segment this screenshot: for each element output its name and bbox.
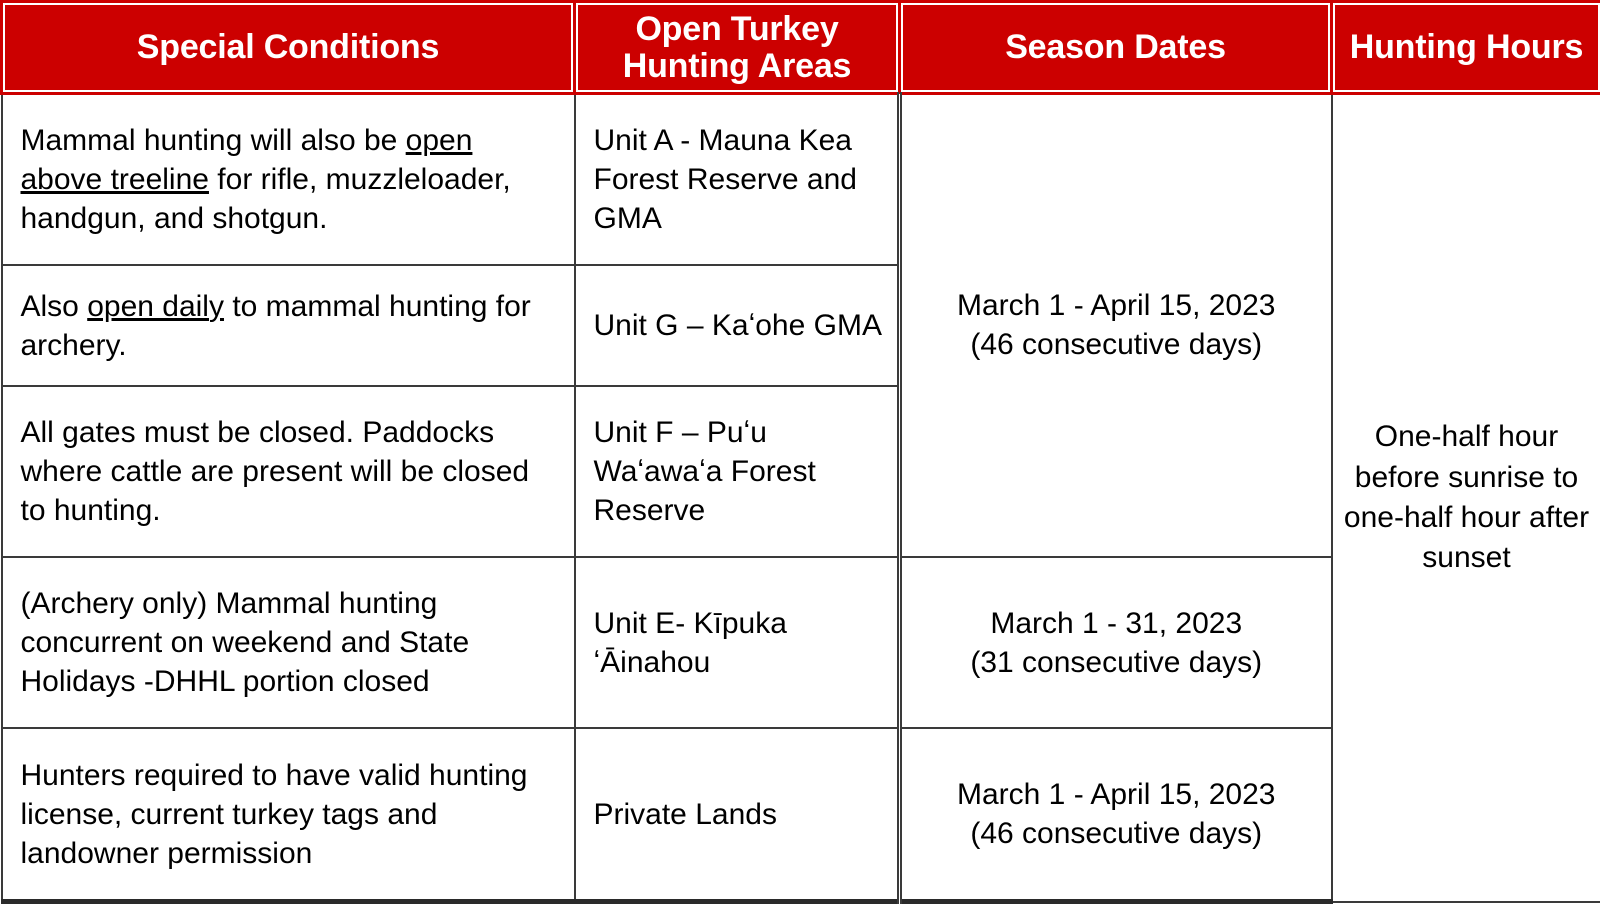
turkey-hunting-regulations-table: Special Conditions Open Turkey Hunting A… [0, 0, 1600, 904]
special-conditions-text-row-1: Mammal hunting will also be open above t… [21, 124, 511, 235]
cell-special-conditions-row-5: Hunters required to have valid hunting l… [2, 728, 575, 901]
cell-hunting-hours-merged-all-rows: One-half hour before sunrise to one-half… [1332, 94, 1600, 902]
column-header-open-turkey-hunting-areas: Open Turkey Hunting Areas [575, 2, 900, 94]
table-header-row: Special Conditions Open Turkey Hunting A… [2, 2, 1600, 94]
cell-special-conditions-row-4: (Archery only) Mammal hunting concurrent… [2, 557, 575, 728]
cell-season-dates-row-5: March 1 - April 15, 2023 (46 consecutive… [900, 728, 1332, 901]
text-before-underline-row-2: Also [21, 290, 88, 323]
underlined-phrase-row-2: open daily [87, 290, 224, 323]
table-body: Mammal hunting will also be open above t… [2, 94, 1600, 902]
cell-special-conditions-row-1: Mammal hunting will also be open above t… [2, 94, 575, 266]
special-conditions-text-row-2: Also open daily to mammal hunting for ar… [21, 290, 531, 362]
season-date-range-3: March 1 - April 15, 2023 [916, 775, 1317, 814]
column-header-hunting-hours: Hunting Hours [1332, 2, 1600, 94]
table-row: Mammal hunting will also be open above t… [2, 94, 1600, 266]
cell-season-dates-row-4: March 1 - 31, 2023 (31 consecutive days) [900, 557, 1332, 728]
season-date-range-1: March 1 - April 15, 2023 [916, 286, 1317, 325]
hunting-regulations-table-container: Special Conditions Open Turkey Hunting A… [0, 0, 1600, 904]
cell-hunting-area-row-4: Unit E- Kīpuka ʻĀinahou [575, 557, 900, 728]
cell-special-conditions-row-2: Also open daily to mammal hunting for ar… [2, 265, 575, 385]
column-header-season-dates: Season Dates [900, 2, 1332, 94]
season-date-duration-2: (31 consecutive days) [916, 643, 1317, 682]
cell-hunting-area-row-2: Unit G – Kaʻohe GMA [575, 265, 900, 385]
cell-hunting-area-row-3: Unit F – Puʻu Waʻawaʻa Forest Reserve [575, 386, 900, 557]
text-before-underline-row-1: Mammal hunting will also be [21, 124, 406, 157]
table-header-row-group: Special Conditions Open Turkey Hunting A… [2, 2, 1600, 94]
column-header-special-conditions: Special Conditions [2, 2, 575, 94]
cell-hunting-area-row-5: Private Lands [575, 728, 900, 901]
cell-season-dates-merged-rows-1-3: March 1 - April 15, 2023 (46 consecutive… [900, 94, 1332, 557]
season-date-range-2: March 1 - 31, 2023 [916, 604, 1317, 643]
cell-special-conditions-row-3: All gates must be closed. Paddocks where… [2, 386, 575, 557]
season-date-duration-3: (46 consecutive days) [916, 814, 1317, 853]
cell-hunting-area-row-1: Unit A - Mauna Kea Forest Reserve and GM… [575, 94, 900, 266]
season-date-duration-1: (46 consecutive days) [916, 325, 1317, 364]
